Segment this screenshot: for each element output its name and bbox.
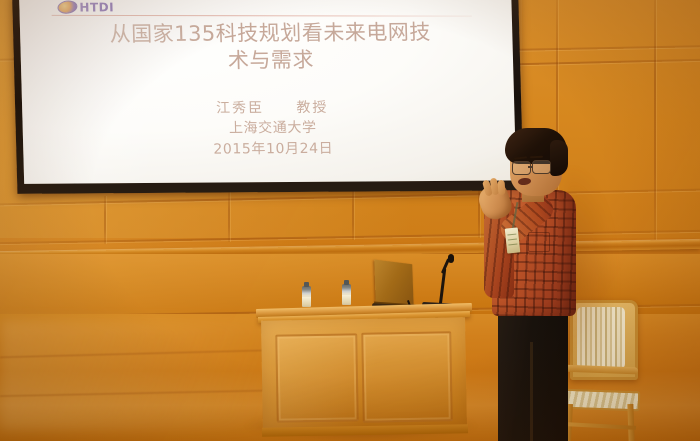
water-bottle xyxy=(342,284,351,305)
bottle-label xyxy=(342,295,351,303)
bottle-label xyxy=(302,297,311,305)
slide-title-line-2: 术与需求 xyxy=(47,45,496,75)
wall-seam-vertical xyxy=(352,188,354,240)
wall-seam-vertical xyxy=(104,196,106,244)
presenter-shirt-pocket xyxy=(528,232,550,252)
presentation-slide: HTDI 从国家135科技规划看未来电网技 术与需求 江秀臣 教授 上海交通大学… xyxy=(19,0,516,184)
presenter-rank: 教授 xyxy=(296,100,328,116)
badge-text-line xyxy=(507,234,516,236)
eyeglasses-bridge xyxy=(528,166,533,168)
slide-title-line-1: 从国家135科技规划看未来电网技 xyxy=(46,19,495,49)
presentation-photo-scene: HTDI 从国家135科技规划看未来电网技 术与需求 江秀臣 教授 上海交通大学… xyxy=(0,0,700,441)
slide-title: 从国家135科技规划看未来电网技 术与需求 xyxy=(46,19,496,76)
projection-screen: HTDI 从国家135科技规划看未来电网技 术与需求 江秀臣 教授 上海交通大学… xyxy=(12,0,524,194)
screen-surface: HTDI 从国家135科技规划看未来电网技 术与需求 江秀臣 教授 上海交通大学… xyxy=(19,0,516,184)
podium-front-panel xyxy=(275,333,359,422)
eyeglasses-lens-left xyxy=(512,161,531,175)
presenter-name: 江秀臣 xyxy=(216,100,264,116)
presenter-finger xyxy=(497,180,505,195)
presenter-trousers xyxy=(498,304,568,441)
logo-text: HTDI xyxy=(79,0,114,14)
wall-seam-vertical xyxy=(228,192,230,242)
presentation-date: 2015年10月24日 xyxy=(49,137,498,160)
presenter-leg-gap xyxy=(530,342,533,441)
microphone-head xyxy=(448,254,454,263)
chair-leg xyxy=(627,404,634,441)
presenter-hair-side xyxy=(550,140,568,176)
badge-text-line xyxy=(508,244,517,246)
eyeglasses-lens-right xyxy=(532,160,551,174)
badge-text-line xyxy=(508,239,517,241)
slide-divider xyxy=(52,15,472,17)
wall-seam-vertical xyxy=(654,0,656,240)
slide-logo: HTDI xyxy=(57,0,114,15)
presenter-name-badge xyxy=(505,227,521,253)
slide-byline: 江秀臣 教授 上海交通大学 2015年10月24日 xyxy=(48,97,498,161)
oval-emblem-icon xyxy=(56,0,78,15)
podium-front-panel xyxy=(361,331,453,423)
presenter-figure xyxy=(474,128,624,441)
water-bottle xyxy=(302,286,311,307)
